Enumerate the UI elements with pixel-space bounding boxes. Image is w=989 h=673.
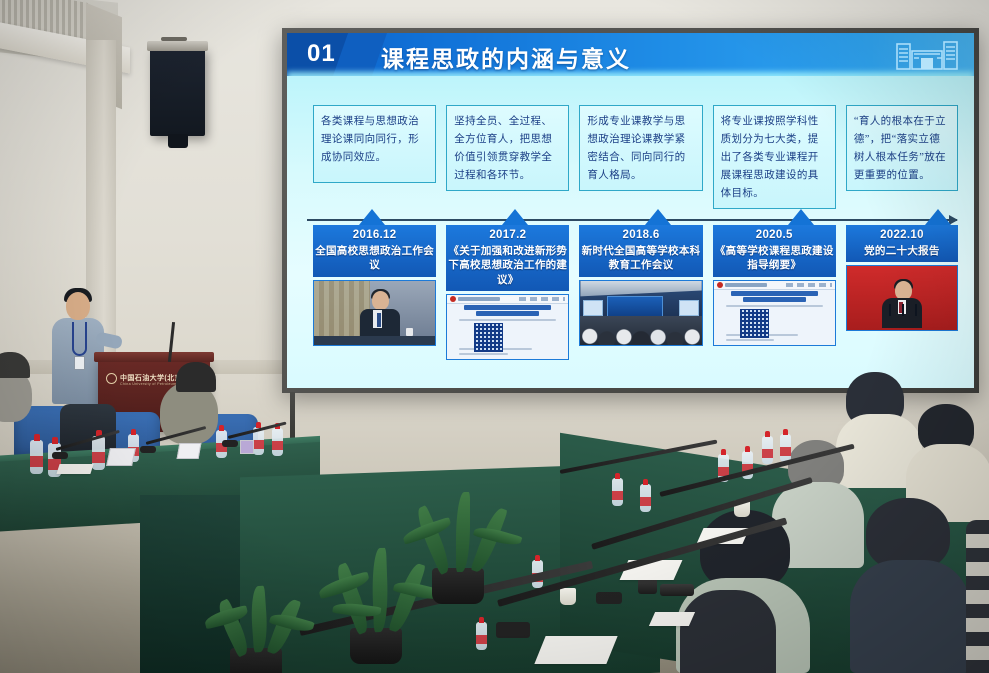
microphone-base [222,440,238,447]
paper-sheet [534,636,617,664]
slide-title: 课程思政的内涵与意义 [381,40,631,74]
note-box: 将专业课按照学科性质划分为七大类，提出了各类专业课程开展课程思政建设的具体目标。 [713,105,836,209]
device-on-table [660,584,694,596]
timeline-marker [359,209,385,225]
microphone-base [52,452,68,459]
timeline-card-label: 2020.5 《高等学校课程思政建设指导纲要》 [713,225,836,277]
wall-speaker [150,48,205,136]
lectern-sign-cn: 中国石油大学(北京) [120,375,185,382]
timeline-photo-speaker-at-desk [313,280,436,346]
note-boxes-row: 各类课程与思想政治理论课同向同行，形成协同效应。 坚持全员、全过程、全方位育人，… [313,105,958,209]
timeline-card-date: 2017.2 [448,228,567,243]
water-bottle [780,434,791,462]
timeline-card: 2017.2 《关于加强和改进新形势下高校思想政治工作的建议》 [446,225,569,360]
timeline-card: 2022.10 党的二十大报告 [846,225,958,331]
timeline-marker [788,209,814,225]
device-on-table [638,578,657,594]
presenter-lanyard [72,322,87,356]
university-seal-icon [106,373,117,384]
presenter-head [66,292,90,320]
presentation-slide: 01 课程思政的内涵与意义 [287,33,974,388]
timeline-card-date: 2018.6 [581,228,700,243]
microphone-base [140,446,156,453]
place-name-card [240,440,254,454]
timeline-card-title: 新时代全国高等学校本科教育工作会议 [582,245,701,271]
note-box: “育人的根本在于立德”，把“落实立德树人根本任务”放在更重要的位置。 [846,105,958,191]
water-bottle [640,484,651,512]
screenshot-stage: 01 课程思政的内涵与意义 [0,0,989,673]
timeline-card-label: 2017.2 《关于加强和改进新形势下高校思想政治工作的建议》 [446,225,569,291]
timeline-card-title: 《关于加强和改进新形势下高校思想政治工作的建议》 [448,245,567,285]
attendee-hair [176,362,216,392]
paper-sheet [649,612,695,626]
speaker-bracket [147,41,208,51]
timeline-card: 2020.5 《高等学校课程思政建设指导纲要》 [713,225,836,346]
timeline-marker [645,209,671,225]
lectern-top [94,352,214,362]
note-box: 坚持全员、全过程、全方位育人，把思想价值引领贯穿教学全过程和各环节。 [446,105,569,191]
timeline-marker [925,209,951,225]
water-bottle [92,436,105,470]
note-box: 各类课程与思想政治理论课同向同行，形成协同效应。 [313,105,436,183]
attendee [966,520,989,673]
projection-screen: 01 课程思政的内涵与意义 [282,28,979,393]
water-bottle [762,436,773,464]
water-bottle [30,440,43,474]
water-bottle [476,622,487,650]
timeline-photo-conference-hall [579,280,702,346]
place-name-card [177,443,202,459]
timeline-photo-speaker-red-backdrop [846,265,958,331]
paper-sheet [56,464,93,474]
timeline-card-label: 2016.12 全国高校思想政治工作会议 [313,225,436,277]
attendee-hair [680,590,776,673]
timeline-cards-row: 2016.12 全国高校思想政治工作会议 2017.2 《关于加强和改进新形势下… [313,225,958,360]
paper-cup [560,588,576,605]
timeline-photo-gov-document [713,280,836,346]
place-name-card [106,448,136,466]
slide-header: 01 课程思政的内涵与意义 [287,33,974,76]
slide-section-number: 01 [307,40,336,68]
speaker-slot [161,37,187,41]
microphone-base [596,592,622,604]
water-bottle [272,428,283,456]
timeline-card: 2016.12 全国高校思想政治工作会议 [313,225,436,346]
timeline-marker [502,209,528,225]
presenter-badge [74,356,85,370]
water-bottle [612,478,623,506]
campus-building-icon [894,38,960,76]
timeline-card-label: 2018.6 新时代全国高等学校本科教育工作会议 [579,225,702,277]
timeline-card-date: 2020.5 [715,228,834,243]
timeline-card-title: 全国高校思想政治工作会议 [315,245,434,271]
timeline-card-title: 党的二十大报告 [864,245,940,257]
microphone-base [496,622,530,638]
timeline-card-date: 2016.12 [315,228,434,243]
timeline-card: 2018.6 新时代全国高等学校本科教育工作会议 [579,225,702,346]
note-box: 形成专业课教学与思想政治理论课教学紧密结合、同向同行的育人格局。 [579,105,702,191]
timeline-photo-gov-document [446,294,569,360]
timeline-card-title: 《高等学校课程思政建设指导纲要》 [715,245,834,271]
speaker-mount [168,134,188,148]
timeline-axis [307,219,957,221]
timeline-card-date: 2022.10 [848,228,956,243]
timeline-card-label: 2022.10 党的二十大报告 [846,225,958,262]
attendee [850,560,970,673]
